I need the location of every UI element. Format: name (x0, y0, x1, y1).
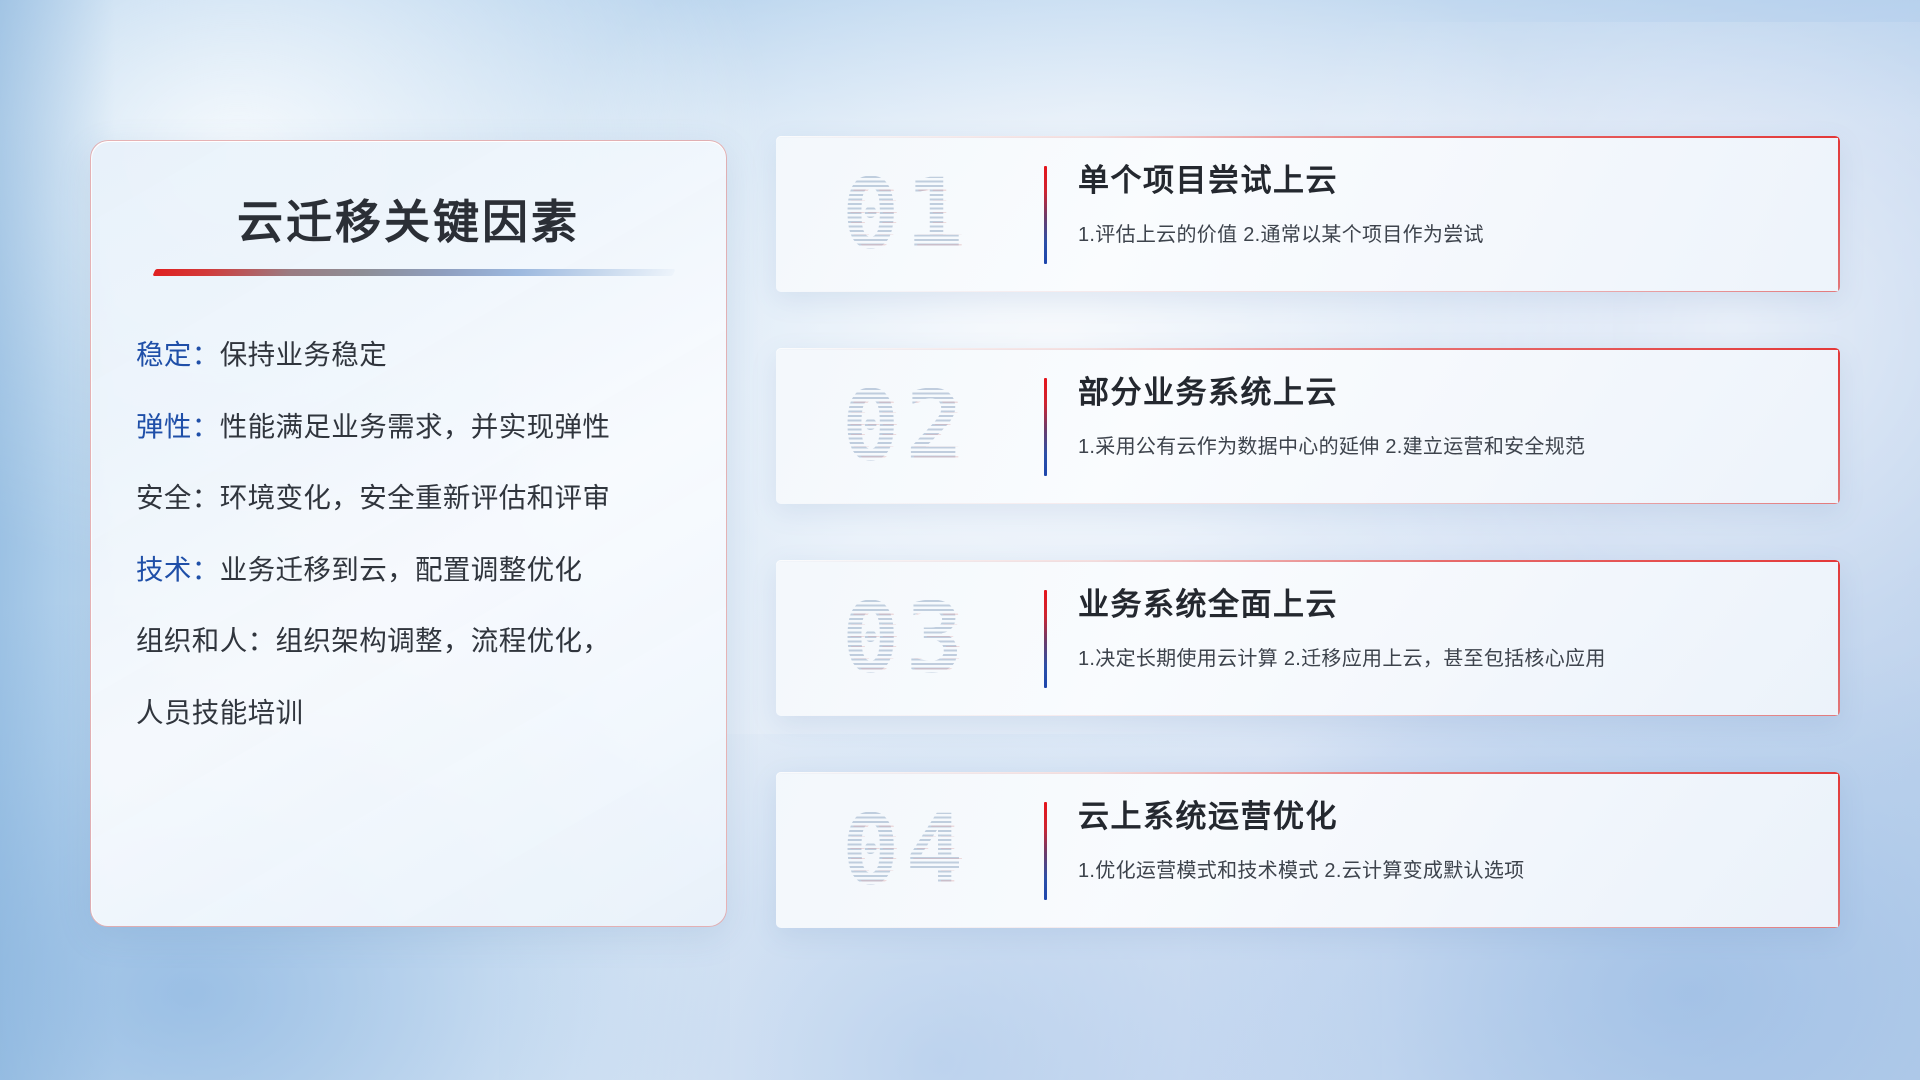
card-top-accent (776, 560, 1840, 562)
card-body: 部分业务系统上云1.采用公有云作为数据中心的延伸 2.建立运营和安全规范 (1078, 374, 1810, 459)
card-step-number: 01 (798, 148, 1013, 280)
key-factor-row: 组织和人：组织架构调整，流程优化， (136, 627, 698, 655)
card-top-accent (776, 136, 1840, 138)
card-title: 业务系统全面上云 (1078, 586, 1810, 625)
card-right-accent (1838, 560, 1840, 716)
key-factor-text: 性能满足业务需求，并实现弹性 (220, 411, 611, 442)
stage-card[interactable]: 03业务系统全面上云1.决定长期使用云计算 2.迁移应用上云，甚至包括核心应用 (776, 560, 1840, 716)
key-factor-label: 技术： (136, 554, 220, 585)
stage-card[interactable]: 04云上系统运营优化1.优化运营模式和技术模式 2.云计算变成默认选项 (776, 772, 1840, 928)
panel-title-underline (152, 269, 675, 276)
key-factor-label: 稳定： (136, 339, 220, 370)
card-accent-bar (1044, 802, 1047, 900)
key-factor-text: 组织架构调整，流程优化， (276, 625, 611, 656)
card-title: 单个项目尝试上云 (1078, 162, 1810, 201)
card-subtitle: 1.评估上云的价值 2.通常以某个项目作为尝试 (1078, 218, 1810, 247)
card-bottom-accent (776, 715, 1840, 716)
card-right-accent (1838, 136, 1840, 292)
card-subtitle: 1.优化运营模式和技术模式 2.云计算变成默认选项 (1078, 854, 1810, 883)
key-factor-text: 业务迁移到云，配置调整优化 (220, 554, 583, 585)
key-factor-row: 弹性：性能满足业务需求，并实现弹性 (136, 413, 698, 441)
card-step-number: 04 (798, 784, 1013, 916)
card-body: 云上系统运营优化1.优化运营模式和技术模式 2.云计算变成默认选项 (1078, 798, 1810, 883)
card-accent-bar (1044, 378, 1047, 476)
stage-cards-list: 01单个项目尝试上云1.评估上云的价值 2.通常以某个项目作为尝试02部分业务系… (776, 136, 1840, 928)
card-right-accent (1838, 348, 1840, 504)
card-top-accent (776, 772, 1840, 774)
key-factors-list: 稳定：保持业务稳定弹性：性能满足业务需求，并实现弹性安全：环境变化，安全重新评估… (136, 341, 698, 726)
stage-card[interactable]: 02部分业务系统上云1.采用公有云作为数据中心的延伸 2.建立运营和安全规范 (776, 348, 1840, 504)
key-factor-row: 稳定：保持业务稳定 (136, 341, 698, 369)
card-step-number-text: 04 (842, 794, 970, 906)
card-bottom-accent (776, 927, 1840, 928)
key-factor-row: 技术：业务迁移到云，配置调整优化 (136, 556, 698, 584)
card-bottom-accent (776, 503, 1840, 504)
key-factor-label: 组织和人： (136, 625, 276, 656)
card-step-number-text: 02 (842, 370, 970, 482)
card-body: 业务系统全面上云1.决定长期使用云计算 2.迁移应用上云，甚至包括核心应用 (1078, 586, 1810, 671)
card-title: 云上系统运营优化 (1078, 798, 1810, 837)
card-body: 单个项目尝试上云1.评估上云的价值 2.通常以某个项目作为尝试 (1078, 162, 1810, 247)
card-right-accent (1838, 772, 1840, 928)
key-factor-row: 安全：环境变化，安全重新评估和评审 (136, 484, 698, 512)
stage-card[interactable]: 01单个项目尝试上云1.评估上云的价值 2.通常以某个项目作为尝试 (776, 136, 1840, 292)
card-step-number: 03 (798, 572, 1013, 704)
key-factor-label: 弹性： (136, 411, 220, 442)
card-accent-bar (1044, 590, 1047, 688)
key-factor-label: 安全： (136, 482, 220, 513)
key-factor-row: 人员技能培训 (136, 699, 698, 727)
card-top-accent (776, 348, 1840, 350)
card-subtitle: 1.采用公有云作为数据中心的延伸 2.建立运营和安全规范 (1078, 430, 1810, 459)
card-subtitle: 1.决定长期使用云计算 2.迁移应用上云，甚至包括核心应用 (1078, 642, 1810, 671)
card-step-number: 02 (798, 360, 1013, 492)
slide-stage: 云迁移关键因素 稳定：保持业务稳定弹性：性能满足业务需求，并实现弹性安全：环境变… (0, 0, 1920, 1080)
card-bottom-accent (776, 291, 1840, 292)
card-accent-bar (1044, 166, 1047, 264)
key-factor-text: 环境变化，安全重新评估和评审 (220, 482, 611, 513)
card-step-number-text: 03 (842, 582, 970, 694)
key-factor-text: 人员技能培训 (136, 697, 303, 728)
card-title: 部分业务系统上云 (1078, 374, 1810, 413)
key-factors-panel: 云迁移关键因素 稳定：保持业务稳定弹性：性能满足业务需求，并实现弹性安全：环境变… (90, 140, 727, 927)
card-step-number-text: 01 (842, 158, 970, 270)
panel-title: 云迁移关键因素 (91, 186, 726, 252)
key-factor-text: 保持业务稳定 (220, 339, 387, 370)
